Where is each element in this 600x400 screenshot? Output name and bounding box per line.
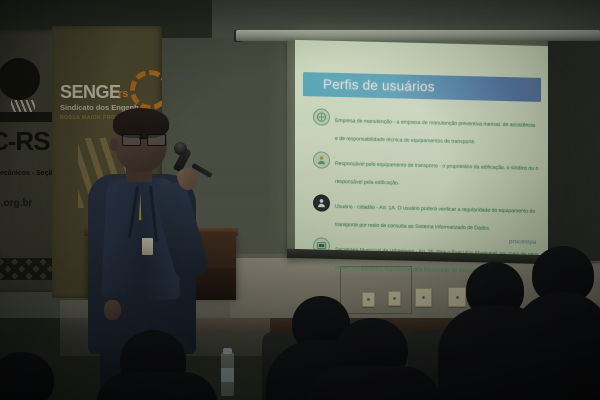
wall-outlet	[362, 292, 375, 307]
user-person-icon	[313, 194, 330, 211]
banner-crs-title: C-RS	[0, 126, 50, 157]
audience-shoulders	[306, 366, 442, 400]
banner-senge-brand: SENGE	[60, 82, 121, 103]
name-badge	[142, 238, 153, 255]
presenter-ear	[110, 138, 118, 151]
audience-head	[0, 352, 54, 400]
circle-slashes-logo-icon	[0, 58, 40, 100]
banner-divider	[0, 112, 56, 122]
screen-roller-case	[236, 30, 600, 41]
projector-screen: Perfis de usuários Empresa de manutenção…	[295, 40, 548, 258]
audience-shoulders	[512, 292, 600, 400]
wall-outlet	[388, 291, 401, 306]
banner-crs-url: -rs.org.br	[0, 198, 32, 209]
presenter	[60, 112, 220, 362]
list-item: Empresa de manutenção - a empresa de man…	[313, 108, 539, 150]
bottle-label	[221, 368, 234, 382]
bullet-text: Usuário - cidadão - Art. 1A. O usuário p…	[335, 204, 535, 232]
list-item: Usuário - cidadão - Art. 1A. O usuário p…	[313, 194, 539, 236]
list-item: Responsável pelo equipamento de transpor…	[313, 151, 539, 193]
procempa-logo: procempa	[509, 239, 536, 246]
presenter-hand	[104, 300, 121, 320]
screen-side-shadow	[548, 41, 600, 261]
bullet-text: Empresa de manutenção - a empresa de man…	[335, 118, 535, 145]
presentation-photo: C-RS os Mecânicos - Seção RS -rs.org.br …	[0, 0, 600, 400]
banner-senge-brand-suffix: rs	[118, 88, 128, 100]
eyeglasses-icon	[122, 134, 166, 144]
bullet-text: Responsável pelo equipamento de transpor…	[335, 161, 538, 187]
presentation-slide: Perfis de usuários Empresa de manutenção…	[295, 40, 548, 258]
responsible-person-icon	[313, 151, 330, 168]
audience-shoulders	[96, 372, 218, 400]
wall-outlet	[448, 287, 466, 307]
gear-tool-icon	[313, 108, 330, 125]
wall-outlet	[415, 288, 432, 307]
slide-title: Perfis de usuários	[323, 77, 435, 95]
